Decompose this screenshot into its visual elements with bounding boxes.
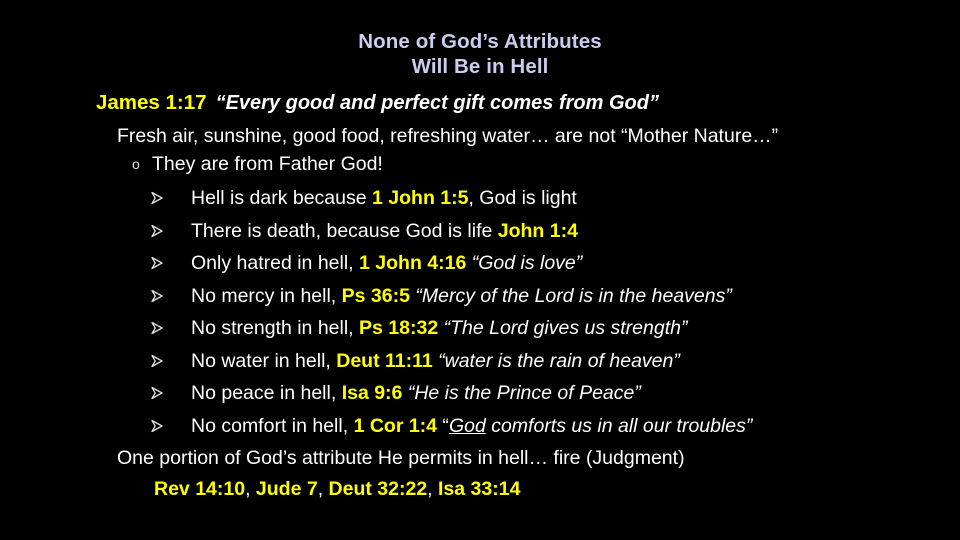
list-item: No strength in hell, Ps 18:32 “The Lord … [150,316,687,341]
list-item-pre: Only hatred in hell, [191,252,359,274]
arrow-bullet-icon [150,415,191,439]
closing-reference: Jude 7 [256,478,318,500]
intro-sub-line-text: They are from Father God! [152,153,383,175]
list-item: Hell is dark because 1 John 1:5, God is … [150,186,577,211]
arrow-bullet-icon [150,285,191,309]
closing-references: Rev 14:10, Jude 7, Deut 32:22, Isa 33:14 [154,477,520,501]
arrow-bullet-icon [150,317,191,341]
list-item-quote: “water is the rain of heaven” [438,350,680,372]
closing-reference: Rev 14:10 [154,478,245,500]
verse-header-line: James 1:17“Every good and perfect gift c… [96,91,659,115]
list-item-post: “ [437,415,449,437]
list-item-pre: No comfort in hell, [191,415,354,437]
list-item-quote: “Mercy of the Lord is in the heavens” [415,285,732,307]
arrow-bullet-icon [150,350,191,374]
slide-title: None of God’s Attributes Will Be in Hell [0,29,960,79]
list-item-reference: 1 John 4:16 [359,252,466,274]
intro-line: Fresh air, sunshine, good food, refreshi… [117,124,778,148]
list-item-quote: “God is love” [472,252,583,274]
closing-line: One portion of God’s attribute He permit… [117,446,685,470]
list-item-quote: comforts us in all our troubles” [486,415,753,437]
closing-reference: Deut 32:22 [329,478,428,500]
list-item: There is death, because God is life John… [150,219,578,244]
list-item: No water in hell, Deut 11:11 “water is t… [150,349,680,374]
list-item-reference: Ps 36:5 [342,285,410,307]
verse-header-reference: James 1:17 [96,91,207,114]
list-item-pre: No mercy in hell, [191,285,342,307]
list-item-quote: “He is the Prince of Peace” [408,382,641,404]
list-item-pre: No water in hell, [191,350,336,372]
slide-canvas: None of God’s Attributes Will Be in Hell… [0,0,960,540]
circle-bullet-icon: o [132,152,152,176]
reference-separator: , [318,478,329,500]
list-item-pre: No peace in hell, [191,382,342,404]
arrow-bullet-icon [150,252,191,276]
list-item-reference: 1 Cor 1:4 [354,415,437,437]
list-item-reference: Isa 9:6 [342,382,403,404]
list-item: Only hatred in hell, 1 John 4:16 “God is… [150,251,582,276]
list-item-reference: 1 John 1:5 [372,187,468,209]
list-item-pre: Hell is dark because [191,187,372,209]
closing-reference: Isa 33:14 [438,478,520,500]
list-item-reference: John 1:4 [498,220,578,242]
list-item-pre: No strength in hell, [191,317,359,339]
list-item-quote: “The Lord gives us strength” [444,317,688,339]
list-item: No mercy in hell, Ps 36:5 “Mercy of the … [150,284,732,309]
arrow-bullet-icon [150,187,191,211]
slide-title-line-1: None of God’s Attributes [0,29,960,54]
list-item-quote-underlined-word: God [449,415,486,437]
slide-title-line-2: Will Be in Hell [0,54,960,79]
list-item: No peace in hell, Isa 9:6 “He is the Pri… [150,381,641,406]
reference-separator: , [427,478,438,500]
list-item: No comfort in hell, 1 Cor 1:4 “God comfo… [150,414,752,439]
arrow-bullet-icon [150,220,191,244]
list-item-reference: Ps 18:32 [359,317,438,339]
list-item-post: , God is light [468,187,576,209]
arrow-bullet-icon [150,382,191,406]
list-item-pre: There is death, because God is life [191,220,498,242]
list-item-reference: Deut 11:11 [336,350,432,372]
intro-sub-line: oThey are from Father God! [132,152,383,176]
verse-header-quote: “Every good and perfect gift comes from … [216,92,659,114]
reference-separator: , [245,478,256,500]
